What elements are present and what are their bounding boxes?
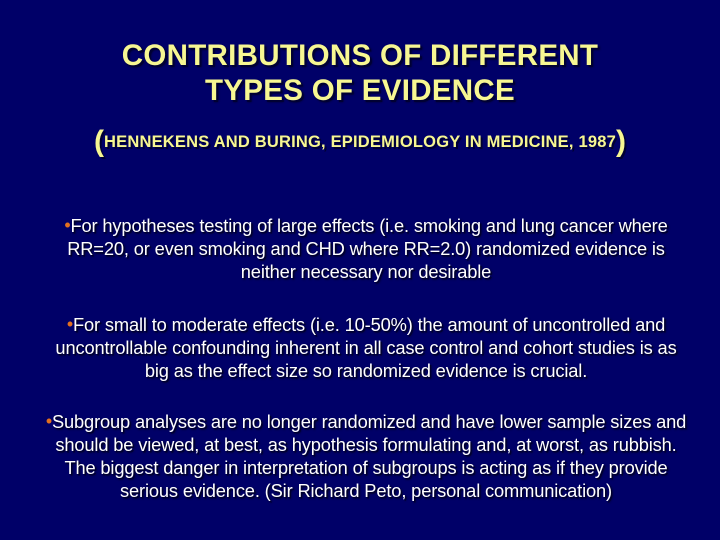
title-line-2: TYPES OF EVIDENCE <box>0 73 720 108</box>
bullet-item: •Subgroup analyses are no longer randomi… <box>42 410 690 502</box>
slide-subtitle: (HENNEKENS AND BURING, EPIDEMIOLOGY IN M… <box>0 125 720 159</box>
bullet-text: For small to moderate effects (i.e. 10-5… <box>55 314 676 381</box>
subtitle-close-paren: ) <box>616 125 626 158</box>
subtitle-citation: HENNEKENS AND BURING, EPIDEMIOLOGY IN ME… <box>104 133 616 151</box>
slide-title: CONTRIBUTIONS OF DIFFERENT TYPES OF EVID… <box>0 38 720 108</box>
title-line-1: CONTRIBUTIONS OF DIFFERENT <box>0 38 720 73</box>
presentation-slide: CONTRIBUTIONS OF DIFFERENT TYPES OF EVID… <box>0 0 720 540</box>
bullet-text: For hypotheses testing of large effects … <box>67 215 667 282</box>
bullet-item: •For hypotheses testing of large effects… <box>42 214 690 283</box>
bullet-text: Subgroup analyses are no longer randomiz… <box>52 411 686 501</box>
subtitle-open-paren: ( <box>94 125 104 158</box>
bullet-item: •For small to moderate effects (i.e. 10-… <box>42 313 690 382</box>
